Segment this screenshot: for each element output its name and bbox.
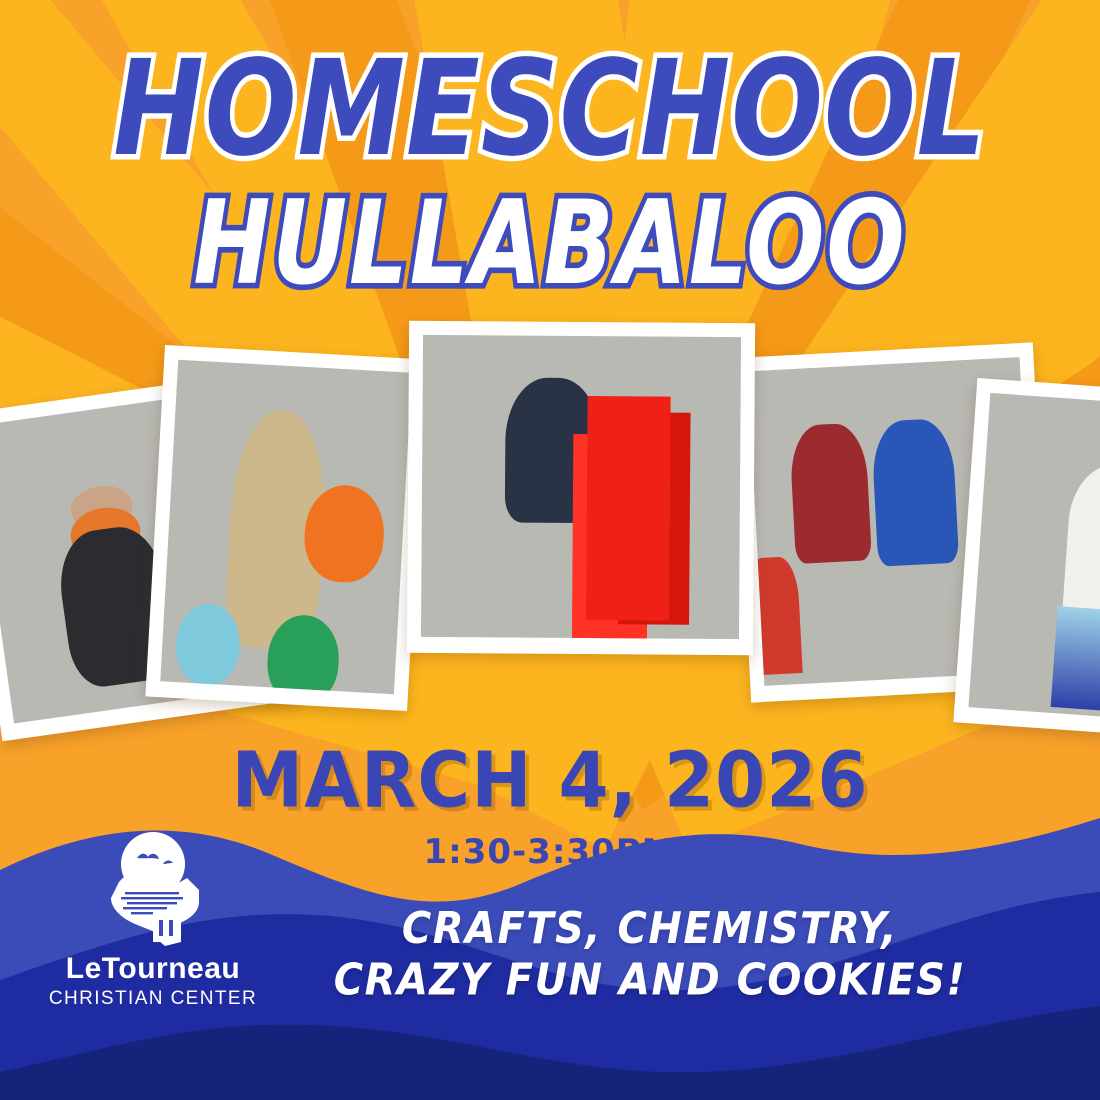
- title-block: HOMESCHOOL HULLABALOO: [0, 58, 1100, 288]
- photo-collage: [0, 330, 1100, 750]
- tagline-line-1: CRAFTS, CHEMISTRY,: [280, 903, 1020, 955]
- photo-girl-painting: [953, 378, 1100, 743]
- photo-girl-balloons: [145, 345, 426, 711]
- photo-boy-red-blocks: [407, 321, 755, 655]
- letourneau-logo: LeTourneau CHRISTIAN CENTER: [38, 828, 268, 1010]
- poster-canvas: HOMESCHOOL HULLABALOO MARCH 4, 2026 1:30…: [0, 0, 1100, 1100]
- title-line-2: HULLABALOO: [0, 188, 1100, 299]
- tagline-line-2: CRAZY FUN AND COOKIES!: [280, 955, 1020, 1007]
- title-line-1: HOMESCHOOL: [0, 47, 1100, 173]
- photo-girl-painting-image: [968, 393, 1100, 726]
- logo-name: LeTourneau: [38, 952, 268, 986]
- footer: LeTourneau CHRISTIAN CENTER CRAFTS, CHEM…: [0, 810, 1100, 1100]
- photo-boy-red-blocks-image: [421, 335, 741, 639]
- shield-sun-birds-water-icon: [91, 828, 215, 946]
- tagline: CRAFTS, CHEMISTRY, CRAZY FUN AND COOKIES…: [280, 903, 1020, 1007]
- logo-subtitle: CHRISTIAN CENTER: [38, 988, 268, 1010]
- photo-girl-balloons-image: [160, 360, 412, 695]
